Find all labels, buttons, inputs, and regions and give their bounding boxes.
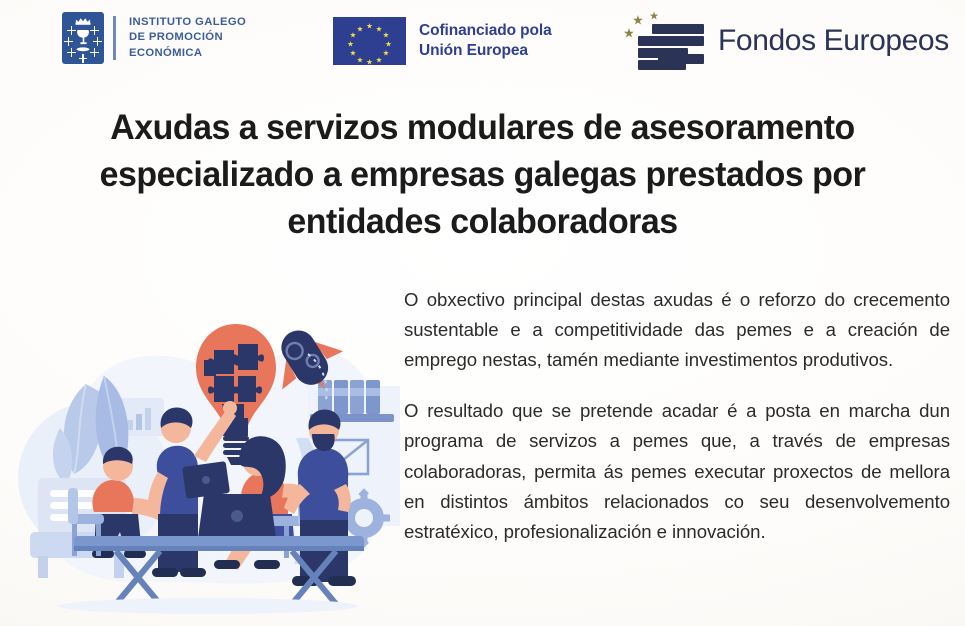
igape-wordmark: INSTITUTO GALEGO DE PROMOCIÓN ECONÓMICA: [129, 15, 246, 61]
logo-divider: [113, 16, 116, 60]
held-laptop: [182, 461, 230, 499]
paragraph-objective: O obxectivo principal destas axudas é o …: [404, 285, 950, 375]
eu-cofinancing-label: Cofinanciado pola Unión Europea: [419, 21, 552, 61]
body-text-column: O obxectivo principal destas axudas é o …: [404, 285, 950, 547]
xunta-de-galicia-coat-of-arms-icon: [62, 12, 104, 64]
logo-bar: INSTITUTO GALEGO DE PROMOCIÓN ECONÓMICA …: [0, 0, 965, 92]
crown-icon: [75, 17, 92, 25]
fondos-europeos-logo: ★ ★ ★ Fondos Europeos: [620, 10, 949, 72]
european-union-flag-icon: ★ ★ ★ ★ ★ ★ ★ ★ ★ ★ ★ ★: [333, 17, 406, 65]
floor-shadow: [58, 598, 358, 614]
team-collaboration-illustration: [8, 288, 400, 618]
illustration-canvas: [8, 288, 400, 618]
eu-cofinancing-logo: ★ ★ ★ ★ ★ ★ ★ ★ ★ ★ ★ ★ Cofinanciado pol…: [333, 17, 552, 65]
paragraph-result: O resultado que se pretende acadar é a p…: [404, 396, 950, 547]
fondos-europeos-stair-icon: ★ ★ ★: [620, 10, 706, 72]
chalice-icon: [75, 28, 92, 52]
igape-logo: INSTITUTO GALEGO DE PROMOCIÓN ECONÓMICA: [62, 12, 246, 64]
fondos-europeos-wordmark: Fondos Europeos: [718, 26, 949, 56]
page-title: Axudas a servizos modulares de asesorame…: [60, 104, 905, 245]
poster-page: INSTITUTO GALEGO DE PROMOCIÓN ECONÓMICA …: [0, 0, 965, 626]
